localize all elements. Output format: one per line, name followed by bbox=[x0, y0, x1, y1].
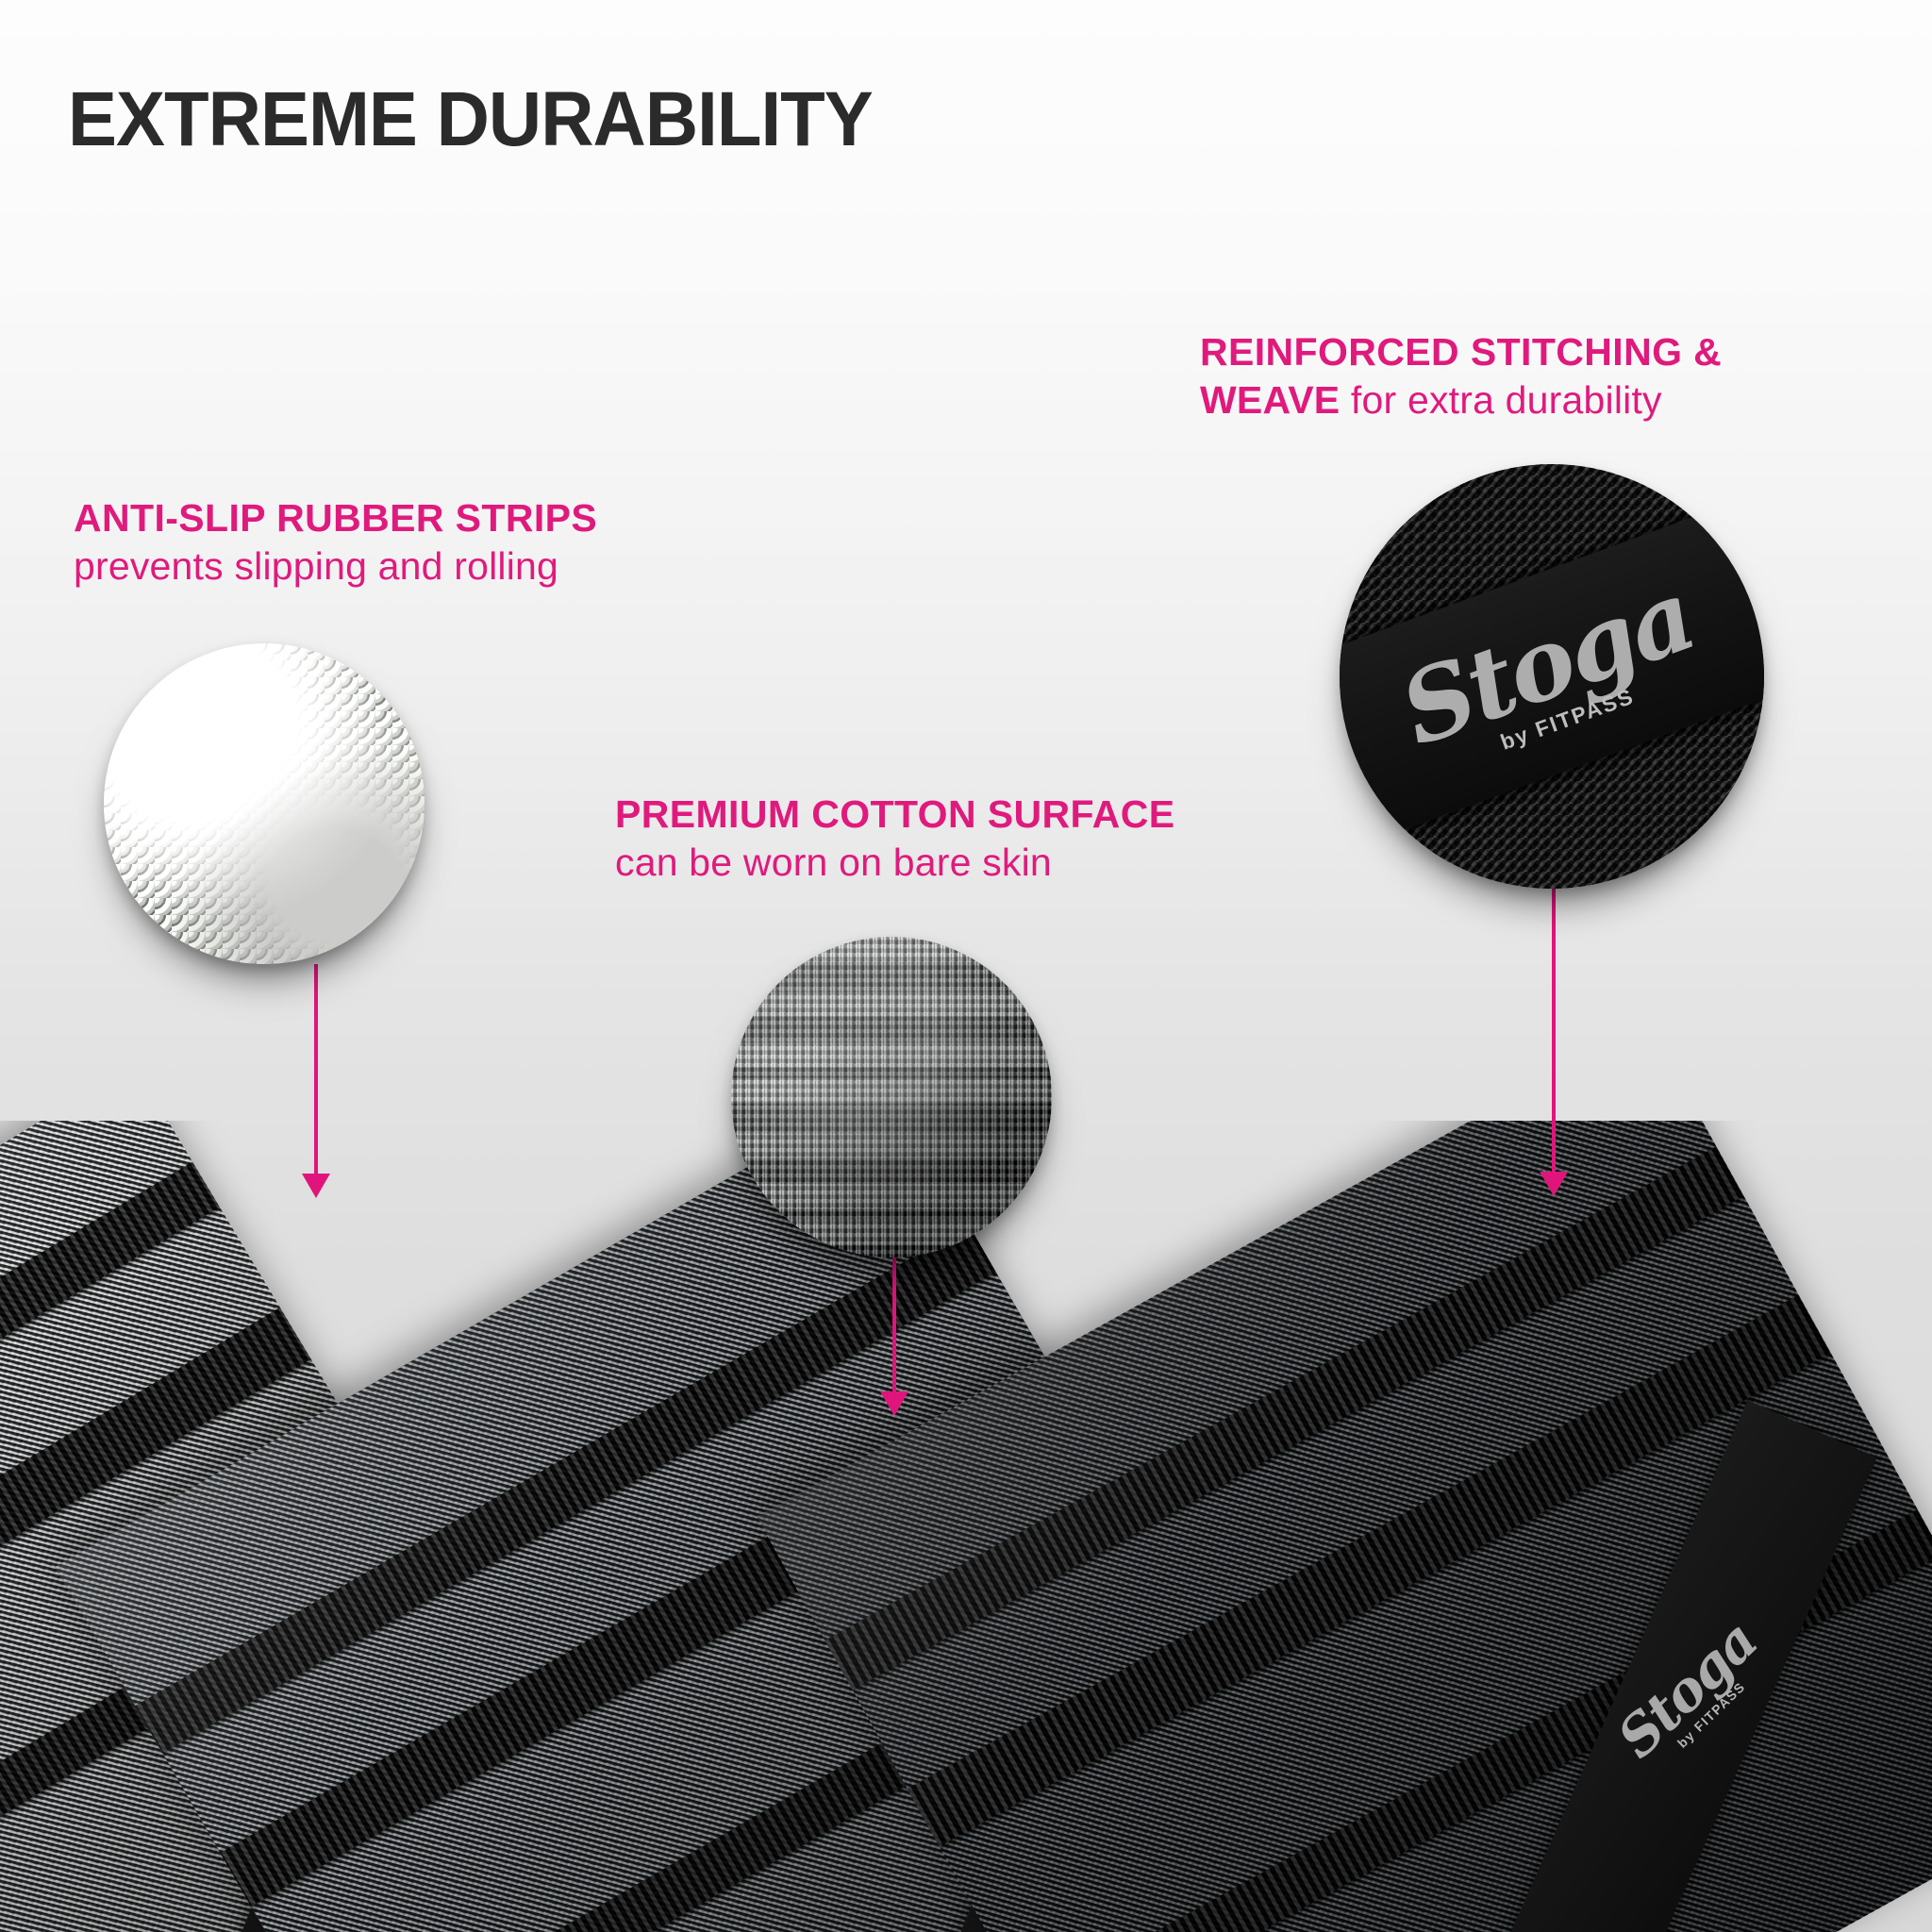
callout-stitching-line2-rest: for extra durability bbox=[1340, 378, 1661, 422]
callout-cotton-headline: PREMIUM COTTON SURFACE bbox=[615, 791, 1174, 838]
callout-stitching: REINFORCED STITCHING & WEAVE for extra d… bbox=[1200, 328, 1722, 425]
stitching-label-texture-circle: Stoga by FITPASS bbox=[1340, 464, 1764, 889]
cotton-weave-texture bbox=[731, 937, 1052, 1257]
leader-line-cotton bbox=[892, 1257, 896, 1397]
arrowhead-icon bbox=[1540, 1172, 1568, 1196]
callout-stitching-line2: WEAVE for extra durability bbox=[1200, 375, 1722, 425]
rubber-texture-circle bbox=[104, 643, 425, 964]
cotton-weave-texture-circle bbox=[731, 937, 1052, 1257]
rubber-bobble-texture bbox=[104, 643, 425, 964]
infographic-canvas: Stoga by FITPASS Stoga by FITPASS bbox=[0, 0, 1932, 1932]
arrowhead-icon bbox=[880, 1391, 908, 1416]
stitched-weave-texture: Stoga by FITPASS bbox=[1340, 464, 1764, 889]
callout-cotton: PREMIUM COTTON SURFACE can be worn on ba… bbox=[615, 791, 1174, 887]
page-title: EXTREME DURABILITY bbox=[68, 81, 873, 158]
callout-stitching-line2-bold: WEAVE bbox=[1200, 378, 1340, 422]
callout-stitching-headline: REINFORCED STITCHING & bbox=[1200, 328, 1722, 375]
callout-anti-slip-subline: prevents slipping and rolling bbox=[74, 541, 597, 591]
callout-anti-slip: ANTI-SLIP RUBBER STRIPS prevents slippin… bbox=[74, 494, 597, 591]
leader-line-stitching bbox=[1552, 889, 1556, 1177]
arrowhead-icon bbox=[302, 1174, 330, 1198]
brand-logo-inset: Stoga by FITPASS bbox=[1340, 464, 1764, 889]
leader-line-anti-slip bbox=[314, 964, 318, 1179]
callout-anti-slip-headline: ANTI-SLIP RUBBER STRIPS bbox=[74, 494, 597, 541]
callout-cotton-subline: can be worn on bare skin bbox=[615, 838, 1174, 887]
